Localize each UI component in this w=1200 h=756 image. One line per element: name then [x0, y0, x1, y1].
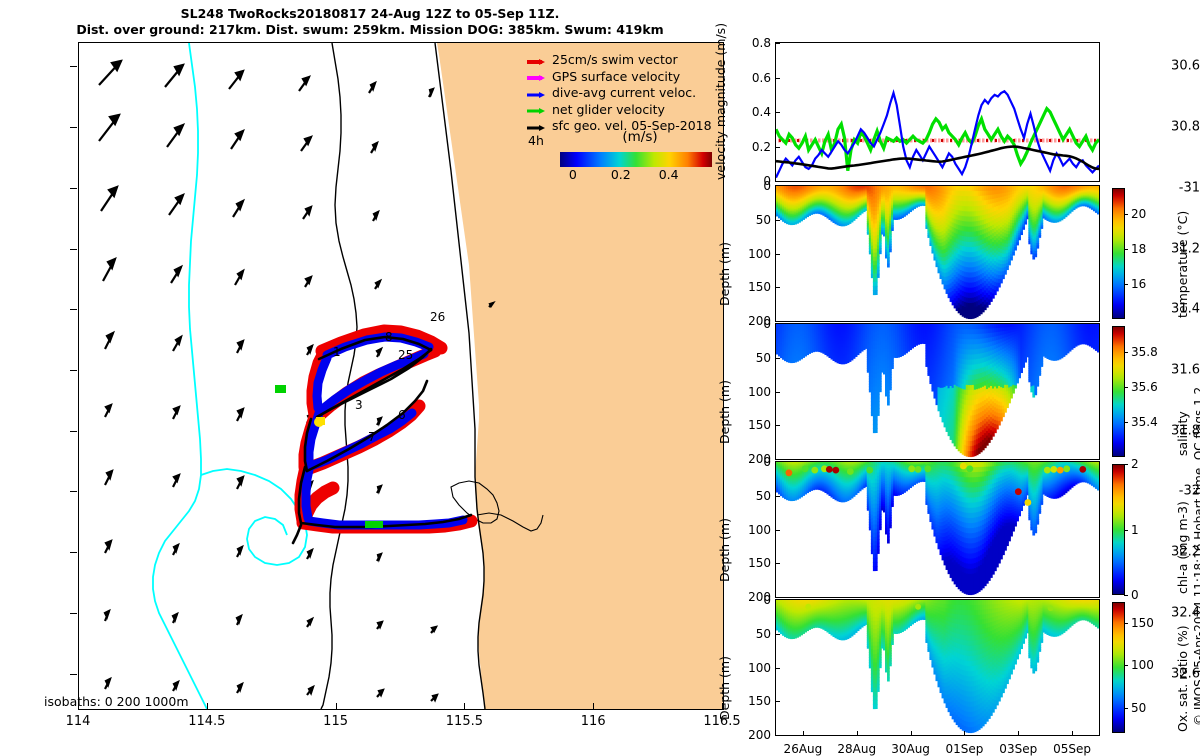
velocity-y-tick-label: 0.8 [731, 36, 771, 50]
oxygen-saturation-colorbar-tick [1124, 665, 1128, 666]
salinity-colorbar-tick-label: 35.8 [1131, 345, 1158, 359]
map-colorbar-tick-label: 0 [569, 167, 577, 182]
temperature-depth-tick-label: 150 [733, 280, 771, 294]
velocity-y-tick [775, 43, 780, 44]
legend-item-label: dive-avg current veloc. [552, 85, 696, 102]
map-lon-tick-label: 114 [66, 714, 91, 729]
oxygen-saturation-colorbar [1112, 602, 1125, 733]
oxygen-saturation-depth-tick-label: 200 [733, 728, 771, 742]
chl-a-depth-tick-label: 50 [733, 489, 771, 503]
oxygen-saturation-depth-tick-label: 100 [733, 661, 771, 675]
chl-a-colorbar-tick-label: 0 [1131, 588, 1139, 602]
legend-arrow-icon [525, 121, 547, 132]
oxygen-saturation-y-axis-label: Depth (m) [717, 656, 732, 720]
legend-item-label: GPS surface velocity [552, 69, 680, 86]
glider-track-number: 8 [385, 330, 393, 344]
glider-track-number: 6 [398, 408, 406, 422]
salinity-colorbar-tick [1124, 422, 1128, 423]
salinity-depth-tick-label: 100 [733, 385, 771, 399]
oxygen-saturation-depth-tick-label: 50 [733, 627, 771, 641]
map-lon-tick-label: 115 [323, 714, 348, 729]
map-lat-tick [70, 370, 77, 371]
velocity-y-tick [775, 181, 780, 182]
velocity-y-tick [775, 78, 780, 79]
title-line-2: Dist. over ground: 217km. Dist. swum: 25… [0, 22, 740, 38]
time-axis-tick-label: 30Aug [891, 742, 930, 756]
temperature-colorbar-tick-label: 20 [1131, 207, 1146, 221]
glider-track-number: 1 [333, 345, 341, 359]
chl-a-colorbar-tick-label: 2 [1131, 457, 1139, 471]
velocity-y-axis-label: velocity magnitude (m/s) [713, 23, 728, 180]
map-lon-tick-label: 114.5 [188, 714, 225, 729]
figure-title: SL248 TwoRocks20180817 24-Aug 12Z to 05-… [0, 6, 740, 38]
time-axis-tick [857, 731, 858, 736]
time-axis-tick [964, 731, 965, 736]
map-legend: 25cm/s swim vectorGPS surface velocitydi… [525, 52, 725, 135]
time-axis-tick [1018, 731, 1019, 736]
oxygen-section [776, 600, 1099, 735]
map-colorbar [560, 152, 712, 167]
salinity-depth-tick-label: 0 [733, 317, 771, 331]
temperature-depth-tick [775, 254, 780, 255]
map-lon-tick [464, 703, 465, 710]
oxygen-saturation-colorbar-tick [1124, 623, 1128, 624]
velocity-y-tick-label: 0.4 [731, 105, 771, 119]
map-lat-tick [70, 249, 77, 250]
map-lat-tick [70, 127, 77, 128]
temperature-colorbar-tick-label: 16 [1131, 277, 1146, 291]
oxygen-saturation-colorbar-tick-label: 150 [1131, 616, 1154, 630]
time-axis-tick-label: 05Sep [1053, 742, 1091, 756]
chla-section [776, 462, 1099, 597]
map-lat-tick [70, 674, 77, 675]
legend-item-label: net glider velocity [552, 102, 665, 119]
time-axis-tick [803, 731, 804, 736]
map-lat-tick [70, 552, 77, 553]
salinity-section-panel[interactable] [775, 323, 1100, 460]
temperature-colorbar-tick [1124, 249, 1128, 250]
time-axis-tick-label: 26Aug [784, 742, 823, 756]
salinity-depth-tick-label: 150 [733, 418, 771, 432]
map-lat-tick-label: -32 [1130, 484, 1200, 499]
velocity-y-tick [775, 147, 780, 148]
legend-arrow-icon [525, 55, 547, 66]
chl-a-depth-tick [775, 530, 780, 531]
velocity-y-tick [775, 112, 780, 113]
time-axis-tick-label: 03Sep [999, 742, 1037, 756]
legend-item: GPS surface velocity [525, 69, 725, 86]
map-lat-tick [70, 491, 77, 492]
map-lon-tick [593, 703, 594, 710]
legend-item-label: 25cm/s swim vector [552, 52, 678, 69]
map-lat-tick [70, 188, 77, 189]
map-lat-tick-label: -31 [1130, 180, 1200, 195]
temperature-colorbar-tick [1124, 284, 1128, 285]
velocity-plot [776, 43, 1099, 181]
isobath-legend-label: isobaths: 0 200 1000m [44, 694, 189, 709]
chl-a-colorbar-tick-label: 1 [1131, 523, 1139, 537]
chl-a-depth-tick [775, 496, 780, 497]
map-lon-tick [336, 703, 337, 710]
oxygen-saturation-colorbar-tick-label: 100 [1131, 658, 1154, 672]
chl-a-y-axis-label: Depth (m) [717, 518, 732, 582]
temperature-section-panel[interactable] [775, 185, 1100, 322]
temperature-colorbar [1112, 188, 1125, 319]
time-axis-tick-label: 28Aug [837, 742, 876, 756]
chl-a-depth-tick [775, 563, 780, 564]
chl-a-depth-tick-label: 150 [733, 556, 771, 570]
map-lon-tick-label: 115.5 [446, 714, 483, 729]
oxygen-saturation-depth-tick-label: 0 [733, 593, 771, 607]
time-axis-tick [911, 731, 912, 736]
chl-a-colorbar-label: chl-a (mg m-3) [1175, 501, 1190, 594]
legend-arrow-icon [525, 104, 547, 115]
time-axis-tick-label: 01Sep [945, 742, 983, 756]
chl-a-colorbar-tick [1124, 595, 1128, 596]
temperature-depth-tick-label: 0 [733, 179, 771, 193]
temperature-y-axis-label: Depth (m) [717, 242, 732, 306]
temperature-colorbar-tick-label: 18 [1131, 242, 1146, 256]
legend-item: net glider velocity [525, 102, 725, 119]
time-axis-tick [1072, 731, 1073, 736]
oxygen-saturation-colorbar-tick-label: 50 [1131, 701, 1146, 715]
glider-track-number: 3 [355, 398, 363, 412]
legend-arrow-icon [525, 71, 547, 82]
salinity-colorbar-label: salinity [1175, 411, 1190, 456]
salinity-colorbar-tick-label: 35.4 [1131, 415, 1158, 429]
salinity-depth-tick [775, 425, 780, 426]
dive-avg-current-line [776, 91, 1099, 177]
temperature-section [776, 186, 1099, 321]
map-lat-tick-label: 31.6 [1130, 363, 1200, 378]
map-lat-tick [70, 613, 77, 614]
oxygen-saturation-depth-tick-label: 150 [733, 694, 771, 708]
salinity-y-axis-label: Depth (m) [717, 380, 732, 444]
oxygen-saturation-colorbar-label: Ox. sat. ratio (%) [1175, 625, 1190, 732]
legend-arrow-icon [525, 88, 547, 99]
map-lat-tick [70, 431, 77, 432]
legend-item: dive-avg current veloc. [525, 85, 725, 102]
temperature-depth-tick-label: 50 [733, 213, 771, 227]
track-end-marker [314, 417, 324, 427]
oxygen-saturation-section-panel[interactable] [775, 599, 1100, 736]
salinity-depth-tick [775, 358, 780, 359]
oxygen-saturation-colorbar-tick [1124, 708, 1128, 709]
temperature-colorbar-label: temperature (°C) [1175, 211, 1190, 318]
title-line-1: SL248 TwoRocks20180817 24-Aug 12Z to 05-… [0, 6, 740, 22]
glider-track-number: 7 [368, 430, 376, 444]
salinity-colorbar-tick-label: 35.6 [1131, 380, 1158, 394]
temperature-depth-tick [775, 220, 780, 221]
map-lat-tick [70, 66, 77, 67]
attribution-text: © IMOS 15-Apr-2024 11:18:16 Hobart time.… [1192, 387, 1200, 726]
chl-a-colorbar-tick [1124, 530, 1128, 531]
oxygen-saturation-depth-tick [775, 701, 780, 702]
velocity-timeseries-panel[interactable] [775, 42, 1100, 182]
chl-a-section-panel[interactable] [775, 461, 1100, 598]
legend-item: 25cm/s swim vector [525, 52, 725, 69]
velocity-y-tick-label: 0.2 [731, 140, 771, 154]
oxygen-saturation-depth-tick [775, 634, 780, 635]
map-lon-tick-label: 116 [581, 714, 606, 729]
temperature-depth-tick-label: 100 [733, 247, 771, 261]
velocity-y-tick-label: 0.6 [731, 71, 771, 85]
salinity-depth-tick-label: 50 [733, 351, 771, 365]
chl-a-colorbar-tick [1124, 464, 1128, 465]
chl-a-depth-tick-label: 100 [733, 523, 771, 537]
map-colorbar-tick-label: 0.4 [659, 167, 679, 182]
map-lat-tick [70, 309, 77, 310]
map-colorbar-tick-label: 0.2 [611, 167, 631, 182]
salinity-colorbar-tick [1124, 352, 1128, 353]
chl-a-depth-tick-label: 0 [733, 455, 771, 469]
salinity-section [776, 324, 1099, 459]
map-colorbar-unit: (m/s) [560, 129, 720, 145]
map-lon-tick [207, 703, 208, 710]
salinity-colorbar-tick [1124, 387, 1128, 388]
map-lat-tick-label: 30.6 [1130, 59, 1200, 74]
temperature-colorbar-tick [1124, 214, 1128, 215]
glider-track-number: 26 [430, 310, 445, 324]
salinity-colorbar [1112, 326, 1125, 457]
salinity-depth-tick [775, 392, 780, 393]
scale-bar-label: 4h [528, 133, 544, 148]
oxygen-saturation-depth-tick [775, 668, 780, 669]
temperature-depth-tick [775, 287, 780, 288]
glider-track-number: 25 [398, 348, 413, 362]
map-lat-tick-label: 30.8 [1130, 120, 1200, 135]
